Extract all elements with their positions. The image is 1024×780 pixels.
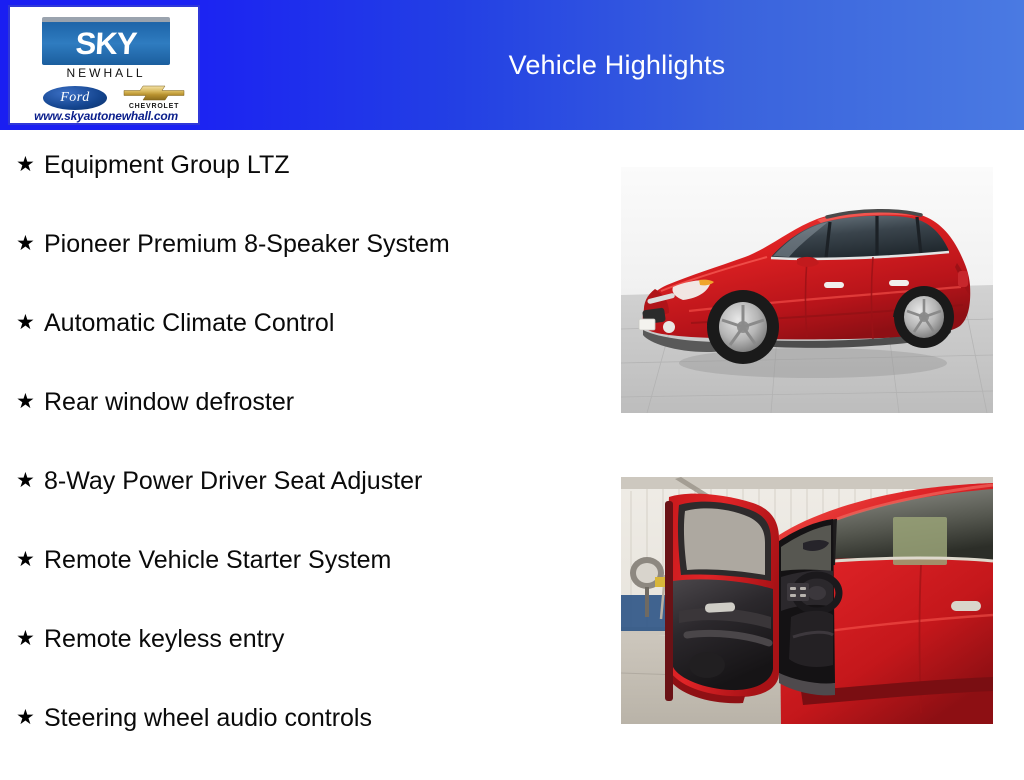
list-item: ★ Automatic Climate Control [0,306,600,385]
list-item-label: Remote keyless entry [44,622,600,656]
vehicle-interior-photo[interactable] [621,477,993,724]
list-item-label: Rear window defroster [44,385,600,419]
list-item-label: Automatic Climate Control [44,306,600,340]
list-item: ★ 8-Way Power Driver Seat Adjuster [0,464,600,543]
list-item-label: Equipment Group LTZ [44,148,600,182]
list-item-label: Pioneer Premium 8-Speaker System [44,227,600,261]
list-item-label: 8-Way Power Driver Seat Adjuster [44,464,600,498]
vehicle-interior-image [621,477,993,724]
ford-logo-text: Ford [43,86,107,110]
list-item: ★ Remote keyless entry [0,622,600,701]
star-bullet-icon: ★ [16,306,44,340]
star-bullet-icon: ★ [16,701,44,735]
list-item-label: Remote Vehicle Starter System [44,543,600,577]
list-item: ★ Remote Vehicle Starter System [0,543,600,622]
star-bullet-icon: ★ [16,543,44,577]
page-header: Vehicle Highlights SKY NEWHALL Ford [0,0,1024,130]
star-bullet-icon: ★ [16,622,44,656]
list-item: ★ Pioneer Premium 8-Speaker System [0,227,600,306]
sky-brand-text: SKY [41,22,171,65]
dealer-logo-inner: SKY NEWHALL Ford [14,10,198,124]
ford-logo-icon: Ford [42,85,108,111]
list-item: ★ Equipment Group LTZ [0,148,600,227]
vehicle-highlights-list: ★ Equipment Group LTZ ★ Pioneer Premium … [0,148,600,780]
sky-logo-plate: SKY [42,17,170,65]
chevrolet-bowtie-icon [123,84,185,102]
vehicle-exterior-image [621,167,993,413]
dealer-website-text: www.skyautonewhall.com [14,109,198,123]
page-title: Vehicle Highlights [210,0,1024,130]
dealer-location-text: NEWHALL [14,66,198,80]
star-bullet-icon: ★ [16,148,44,182]
star-bullet-icon: ★ [16,385,44,419]
star-bullet-icon: ★ [16,464,44,498]
vehicle-exterior-photo[interactable] [621,167,993,413]
list-item: ★ Rear window defroster [0,385,600,464]
list-item-label: Steering wheel audio controls [44,701,600,735]
list-item: ★ Steering wheel audio controls [0,701,600,780]
star-bullet-icon: ★ [16,227,44,261]
dealer-logo[interactable]: SKY NEWHALL Ford [8,5,200,125]
